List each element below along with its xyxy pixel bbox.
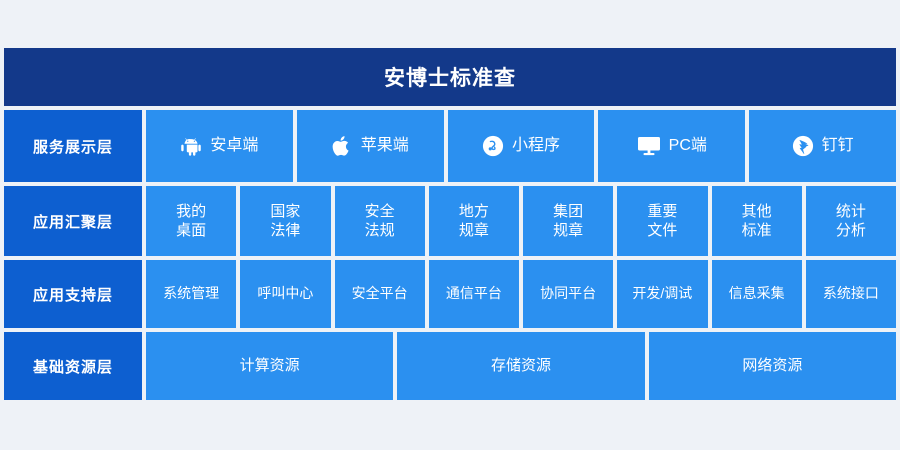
cell-label: 其他 标准 bbox=[742, 202, 772, 240]
cell-security-platform[interactable]: 安全平台 bbox=[335, 260, 425, 328]
cell-dingtalk[interactable]: 钉钉 bbox=[749, 110, 896, 182]
mini-program-icon bbox=[482, 135, 504, 157]
android-icon bbox=[180, 135, 202, 157]
cell-label: 信息采集 bbox=[729, 285, 785, 303]
layer-label-services: 服务展示层 bbox=[4, 110, 142, 182]
cell-label: 安全平台 bbox=[352, 285, 408, 303]
cell-label: 网络资源 bbox=[742, 356, 802, 375]
layer-cells-services: 安卓端 苹果端 小程序 bbox=[146, 110, 896, 182]
cell-label: 存储资源 bbox=[491, 356, 551, 375]
layer-row-support: 应用支持层 系统管理 呼叫中心 安全平台 通信平台 协同平台 开发/调试 信息采… bbox=[4, 260, 896, 328]
cell-storage-resource[interactable]: 存储资源 bbox=[397, 332, 644, 400]
cell-collaboration-platform[interactable]: 协同平台 bbox=[523, 260, 613, 328]
cell-label: 地方 规章 bbox=[459, 202, 489, 240]
cell-label: 系统管理 bbox=[163, 285, 219, 303]
cell-system-interface[interactable]: 系统接口 bbox=[806, 260, 896, 328]
cell-apple[interactable]: 苹果端 bbox=[297, 110, 444, 182]
cell-develop-debug[interactable]: 开发/调试 bbox=[617, 260, 707, 328]
cell-label: 小程序 bbox=[512, 136, 560, 156]
cell-label-line1: 其他 bbox=[742, 202, 772, 221]
page-title: 安博士标准查 bbox=[384, 62, 516, 92]
cell-mini-program[interactable]: 小程序 bbox=[448, 110, 595, 182]
cell-national-law[interactable]: 国家 法律 bbox=[240, 186, 330, 256]
cell-statistics-analysis[interactable]: 统计 分析 bbox=[806, 186, 896, 256]
cell-label: 重要 文件 bbox=[647, 202, 677, 240]
layer-row-infrastructure: 基础资源层 计算资源 存储资源 网络资源 bbox=[4, 332, 896, 400]
cell-label: 开发/调试 bbox=[632, 285, 692, 303]
cell-label: 钉钉 bbox=[822, 136, 854, 156]
cell-group-rules[interactable]: 集团 规章 bbox=[523, 186, 613, 256]
cell-label-line2: 规章 bbox=[459, 221, 489, 240]
cell-other-standards[interactable]: 其他 标准 bbox=[712, 186, 802, 256]
layer-label-apps: 应用汇聚层 bbox=[4, 186, 142, 256]
layer-row-apps: 应用汇聚层 我的 桌面 国家 法律 安全 法规 bbox=[4, 186, 896, 256]
cell-label-line1: 重要 bbox=[647, 202, 677, 221]
architecture-diagram: 安博士标准查 服务展示层 安卓端 苹果端 bbox=[4, 48, 896, 412]
cell-label: 协同平台 bbox=[540, 285, 596, 303]
cell-label: 通信平台 bbox=[446, 285, 502, 303]
cell-my-desktop[interactable]: 我的 桌面 bbox=[146, 186, 236, 256]
cell-label: 呼叫中心 bbox=[257, 285, 313, 303]
cell-label-line1: 国家 bbox=[270, 202, 300, 221]
cell-label-line2: 法律 bbox=[270, 221, 300, 240]
cell-label: 统计 分析 bbox=[836, 202, 866, 240]
cell-label: 苹果端 bbox=[361, 136, 409, 156]
cell-label: 安卓端 bbox=[210, 136, 258, 156]
apple-icon bbox=[332, 134, 353, 158]
layer-cells-apps: 我的 桌面 国家 法律 安全 法规 地方 规章 bbox=[146, 186, 896, 256]
cell-label: 计算资源 bbox=[240, 356, 300, 375]
cell-label-line2: 文件 bbox=[647, 221, 677, 240]
cell-label-line1: 统计 bbox=[836, 202, 866, 221]
layer-label-infrastructure: 基础资源层 bbox=[4, 332, 142, 400]
monitor-icon bbox=[637, 135, 661, 157]
cell-information-collection[interactable]: 信息采集 bbox=[712, 260, 802, 328]
cell-label: 我的 桌面 bbox=[176, 202, 206, 240]
cell-network-resource[interactable]: 网络资源 bbox=[649, 332, 896, 400]
cell-system-management[interactable]: 系统管理 bbox=[146, 260, 236, 328]
layer-label-support: 应用支持层 bbox=[4, 260, 142, 328]
cell-label: PC端 bbox=[669, 136, 707, 156]
cell-label-line2: 规章 bbox=[553, 221, 583, 240]
cell-compute-resource[interactable]: 计算资源 bbox=[146, 332, 393, 400]
layer-cells-support: 系统管理 呼叫中心 安全平台 通信平台 协同平台 开发/调试 信息采集 系统接口 bbox=[146, 260, 896, 328]
cell-local-rules[interactable]: 地方 规章 bbox=[429, 186, 519, 256]
cell-safety-regulation[interactable]: 安全 法规 bbox=[335, 186, 425, 256]
cell-label: 系统接口 bbox=[823, 285, 879, 303]
cell-android[interactable]: 安卓端 bbox=[146, 110, 293, 182]
cell-call-center[interactable]: 呼叫中心 bbox=[240, 260, 330, 328]
cell-label-line2: 分析 bbox=[836, 221, 866, 240]
cell-label-line2: 标准 bbox=[742, 221, 772, 240]
cell-label-line2: 桌面 bbox=[176, 221, 206, 240]
layer-cells-infrastructure: 计算资源 存储资源 网络资源 bbox=[146, 332, 896, 400]
cell-label-line2: 法规 bbox=[365, 221, 395, 240]
dingtalk-icon bbox=[792, 135, 814, 157]
cell-pc[interactable]: PC端 bbox=[598, 110, 745, 182]
diagram-banner: 安博士标准查 bbox=[4, 48, 896, 106]
cell-label: 集团 规章 bbox=[553, 202, 583, 240]
cell-important-documents[interactable]: 重要 文件 bbox=[617, 186, 707, 256]
cell-label-line1: 集团 bbox=[553, 202, 583, 221]
layer-row-services: 服务展示层 安卓端 苹果端 bbox=[4, 110, 896, 182]
cell-communication-platform[interactable]: 通信平台 bbox=[429, 260, 519, 328]
cell-label-line1: 地方 bbox=[459, 202, 489, 221]
cell-label: 国家 法律 bbox=[270, 202, 300, 240]
cell-label: 安全 法规 bbox=[365, 202, 395, 240]
cell-label-line1: 安全 bbox=[365, 202, 395, 221]
cell-label-line1: 我的 bbox=[176, 202, 206, 221]
